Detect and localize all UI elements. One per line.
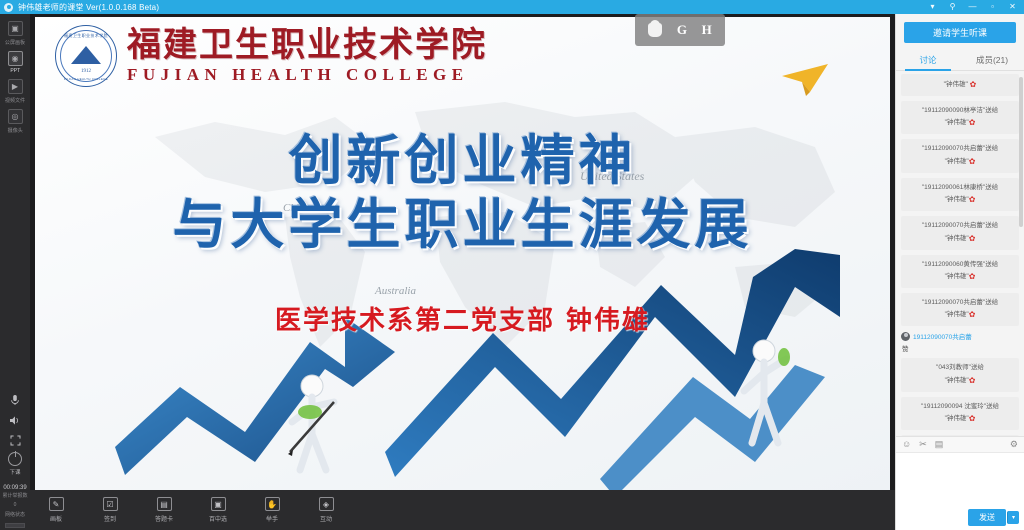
floating-key-overlay[interactable]: G H [635,14,725,46]
interaction-icon: ◈ [319,497,334,511]
answer-card-icon: ▤ [157,497,172,511]
sidebar-item-label: 视频文件 [5,96,25,103]
slide-subtitle: 医学技术系第二党支部 钟伟雄 [35,300,890,337]
user-avatar-icon [901,332,910,341]
message-bubble: "19112090060黄传强"送给 "钟伟雄"✿ [901,255,1019,288]
message-bubble: "19112090070共启蕾"送给 "钟伟雄"✿ [901,139,1019,172]
gift-verb: 送给 [985,184,998,191]
gift-receiver: 钟伟雄 [947,377,967,384]
tab-members[interactable]: 成员(21) [960,49,1024,70]
sidebar-item-camera[interactable]: ◎ 摄像头 [0,106,30,136]
rose-icon: ✿ [969,376,976,385]
sidebar-item-fullscreen[interactable] [0,430,30,450]
tool-interaction[interactable]: ◈ 互动 [310,497,342,523]
rose-icon: ✿ [969,157,976,166]
gift-sender: 19112090094 沈蜜玲 [923,403,984,410]
close-icon[interactable]: ✕ [1007,1,1018,13]
sidebar-item-label: 摄像头 [7,126,22,133]
invite-students-button[interactable]: 邀请学生听课 [904,22,1016,43]
class-timer: 00:09:39 [0,485,30,491]
gift-sender: 19112090070共启蕾 [924,145,983,152]
sidebar-media-controls [0,390,30,450]
tool-label: 答题卡 [155,514,173,523]
seal-year: 1912 [81,69,91,74]
ppt-icon: ◉ [8,51,23,66]
random-pick-icon: ▣ [211,497,226,511]
app-logo-icon [4,3,13,12]
sidebar-item-whiteboard[interactable]: ▣ 公屏画板 [0,18,30,48]
slide-title-line-1: 创新创业精神 [35,129,890,193]
send-options-button[interactable]: ▾ [1007,511,1019,524]
sidebar-item-video-file[interactable]: ▶ 视频文件 [0,76,30,106]
video-file-icon: ▶ [8,79,23,94]
gift-sender: 043刘教师 [938,364,968,371]
pin-icon[interactable]: ⚲ [947,1,958,13]
user-message-header: 19112090070共启蕾 [901,331,1019,341]
message-bubble: "19112090070共启蕾"送给 "钟伟雄"✿ [901,293,1019,326]
chat-input[interactable] [896,453,1024,508]
rose-icon: ✿ [969,195,976,204]
gift-receiver: 钟伟雄 [947,415,967,422]
message-bubble: "19112090090林亭洁"送给 "钟伟雄"✿ [901,101,1019,134]
message-bubble: "19112090094 沈蜜玲"送给 "钟伟雄"✿ [901,397,1019,430]
gift-verb: 送给 [985,299,998,306]
bottom-toolbar: ✎ 画板 ☑ 签到 ▤ 答题卡 ▣ 百中选 ✋ 举手 ◈ 互动 [30,490,895,530]
sidebar-item-label: 公屏画板 [5,38,25,45]
message-bubble: "19112090070共启蕾"送给 "钟伟雄"✿ [901,216,1019,249]
dropdown-icon[interactable]: ▾ [927,1,938,13]
tool-label: 画板 [50,514,62,523]
raise-hand-icon: ✋ [265,497,280,511]
gift-verb: 送给 [986,403,999,410]
overlay-key-g[interactable]: G [677,22,687,38]
check-in-icon: ☑ [103,497,118,511]
whiteboard-icon: ▣ [8,21,23,36]
seal-en-text: FUJIAN HEALTH COLLEGE [64,77,108,81]
invite-section: 邀请学生听课 [896,14,1024,49]
rose-icon: ✿ [969,234,976,243]
gift-receiver: 钟伟雄 [946,81,966,88]
college-name-cn: 福建卫生职业技术学院 [127,28,487,62]
college-name-en: FUJIAN HEALTH COLLEGE [127,65,487,85]
gift-verb: 送给 [985,261,998,268]
sidebar-item-speaker[interactable] [0,410,30,430]
gift-verb: 送给 [971,364,984,371]
gift-receiver: 钟伟雄 [947,158,967,165]
message-bubble: "钟伟雄" ✿ [901,74,1019,96]
gift-receiver: 钟伟雄 [947,311,967,318]
editor-toolbar: ☺ ✂ ▤ ⚙ [896,436,1024,453]
app-window: 钟伟雄老师的课堂 Ver(1.0.0.168 Beta) ▾ ⚲ — ▫ ✕ ▣… [0,0,1024,530]
chat-panel: 邀请学生听课 讨论 成员(21) "钟伟雄" ✿ "19112090090林亭洁… [895,14,1024,530]
left-sidebar: ▣ 公屏画板 ◉ PPT ▶ 视频文件 ◎ 摄像头 [0,14,30,530]
stat-value: 0 [0,502,30,510]
tab-discussion[interactable]: 讨论 [896,49,960,70]
gift-receiver: 钟伟雄 [947,235,967,242]
message-bubble: "19112090061林康桥"送给 "钟伟雄"✿ [901,178,1019,211]
end-class-label: 下课 [9,468,20,476]
gift-sender: 19112090061林康桥 [924,184,983,191]
stat-label-1: 累计举报数 [0,493,30,501]
mouse-pointer-icon [648,23,662,37]
fullscreen-icon [8,433,23,448]
emoji-icon[interactable]: ☺ [902,440,911,449]
paper-plane-icon [780,62,830,97]
sidebar-footer: 下课 00:09:39 累计举报数 0 网络状态 [0,450,30,530]
gift-receiver: 钟伟雄 [947,119,967,126]
college-seal-icon: 福建卫生职业技术学院 1912 FUJIAN HEALTH COLLEGE [55,25,117,87]
image-icon[interactable]: ▤ [935,440,944,449]
gift-sender: 19112090070共启蕾 [924,222,983,229]
seal-mountain-icon [71,46,101,66]
end-class-icon [8,452,22,466]
message-bubble: "043刘教师"送给 "钟伟雄"✿ [901,358,1019,391]
window-controls: ▾ ⚲ — ▫ ✕ [927,0,1022,14]
tool-answer-card[interactable]: ▤ 答题卡 [148,497,180,523]
rose-icon: ✿ [969,272,976,281]
tool-check-in[interactable]: ☑ 签到 [94,497,126,523]
speaker-icon [8,413,23,428]
seal-cn-text: 福建卫生职业技术学院 [64,33,108,39]
slide-title-line-2: 与大学生职业生涯发展 [35,193,890,257]
send-row: 发送 ▾ [896,508,1024,530]
microphone-icon [8,393,23,408]
send-button[interactable]: 发送 [968,509,1006,526]
rose-icon: ✿ [969,118,976,127]
rose-icon: ✿ [969,310,976,319]
tool-raise-hand[interactable]: ✋ 举手 [256,497,288,523]
gear-icon[interactable]: ⚙ [1010,439,1018,450]
slide-title-block: 创新创业精神 与大学生职业生涯发展 [35,129,890,256]
gift-sender: 19112090070共启蕾 [924,299,983,306]
presentation-stage: United States China Australia 福建卫生职业技术学院… [30,14,895,530]
title-bar: 钟伟雄老师的课堂 Ver(1.0.0.168 Beta) ▾ ⚲ — ▫ ✕ [0,0,1024,14]
gift-receiver: 钟伟雄 [947,196,967,203]
tool-label: 举手 [266,514,278,523]
gift-verb: 送给 [985,145,998,152]
stick-figure-left [280,372,350,482]
gift-sender: 19112090060黄传强 [924,261,983,268]
drawing-board-icon: ✎ [49,497,64,511]
sidebar-item-label: PPT [10,68,20,74]
user-message-body: 赞 [901,343,1019,353]
sidebar-item-ppt[interactable]: ◉ PPT [0,48,30,76]
college-header: 福建卫生职业技术学院 1912 FUJIAN HEALTH COLLEGE 福建… [55,25,487,87]
user-message-name[interactable]: 19112090070共启蕾 [913,331,972,341]
rose-icon: ✿ [970,80,977,89]
user-message: 19112090070共启蕾 赞 [901,331,1019,353]
maximize-icon[interactable]: ▫ [987,1,998,13]
network-status-bar [5,523,25,528]
tool-random-pick[interactable]: ▣ 百中选 [202,497,234,523]
chat-scrollbar[interactable] [1019,77,1023,227]
stick-figure-right [730,337,800,457]
end-class-button[interactable]: 下课 [0,450,30,479]
gift-sender: 19112090090林亭洁 [924,107,983,114]
gift-verb: 送给 [985,107,998,114]
message-list[interactable]: "钟伟雄" ✿ "19112090090林亭洁"送给 "钟伟雄"✿ "19112… [896,71,1024,436]
rose-icon: ✿ [969,414,976,423]
slide-canvas[interactable]: United States China Australia 福建卫生职业技术学院… [35,17,890,504]
sidebar-item-microphone[interactable] [0,390,30,410]
window-title: 钟伟雄老师的课堂 Ver(1.0.0.168 Beta) [18,2,159,13]
gift-verb: 送给 [985,222,998,229]
tool-label: 百中选 [209,514,227,523]
chat-tabs: 讨论 成员(21) [896,49,1024,71]
tool-drawing-board[interactable]: ✎ 画板 [40,497,72,523]
stat-label-2: 网络状态 [0,512,30,520]
gift-receiver: 钟伟雄 [947,273,967,280]
minimize-icon[interactable]: — [967,1,978,13]
overlay-key-h[interactable]: H [702,22,712,38]
tool-label: 签到 [104,514,116,523]
camera-icon: ◎ [8,109,23,124]
tool-label: 互动 [320,514,332,523]
message-bubble: "邵茹"送给 "钟伟雄"✿ [901,435,1019,436]
scissors-icon[interactable]: ✂ [919,440,927,449]
